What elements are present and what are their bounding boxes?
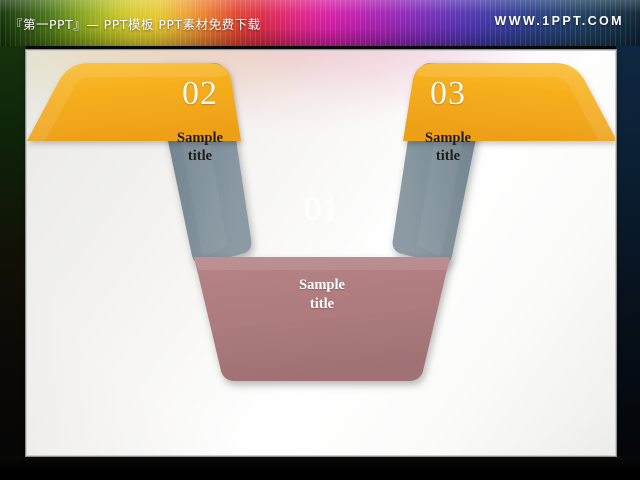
screenshot-root: 『第一PPT』— PPT模板 PPT素材免费下载 WWW.1PPT.COM	[0, 0, 640, 480]
step-03-banner-shape	[403, 63, 616, 141]
banner-brand-text: 『第一PPT』— PPT模板 PPT素材免费下载	[10, 14, 261, 33]
step-02-banner-shape	[27, 63, 241, 141]
banner-website-url: WWW.1PPT.COM	[495, 14, 625, 28]
center-gap	[253, 63, 391, 261]
site-banner: 『第一PPT』— PPT模板 PPT素材免费下载 WWW.1PPT.COM	[0, 0, 640, 46]
funnel-diagram: 02 Sample title 03 Sample title 01 Sampl…	[27, 51, 616, 456]
slide-canvas: 02 Sample title 03 Sample title 01 Sampl…	[26, 50, 616, 456]
frame-edge-right	[616, 46, 640, 480]
frame-edge-bottom	[0, 456, 640, 480]
frame-edge-left	[0, 46, 26, 480]
diagram-svg	[27, 51, 616, 456]
step-01-trapezoid-shape	[194, 257, 450, 381]
